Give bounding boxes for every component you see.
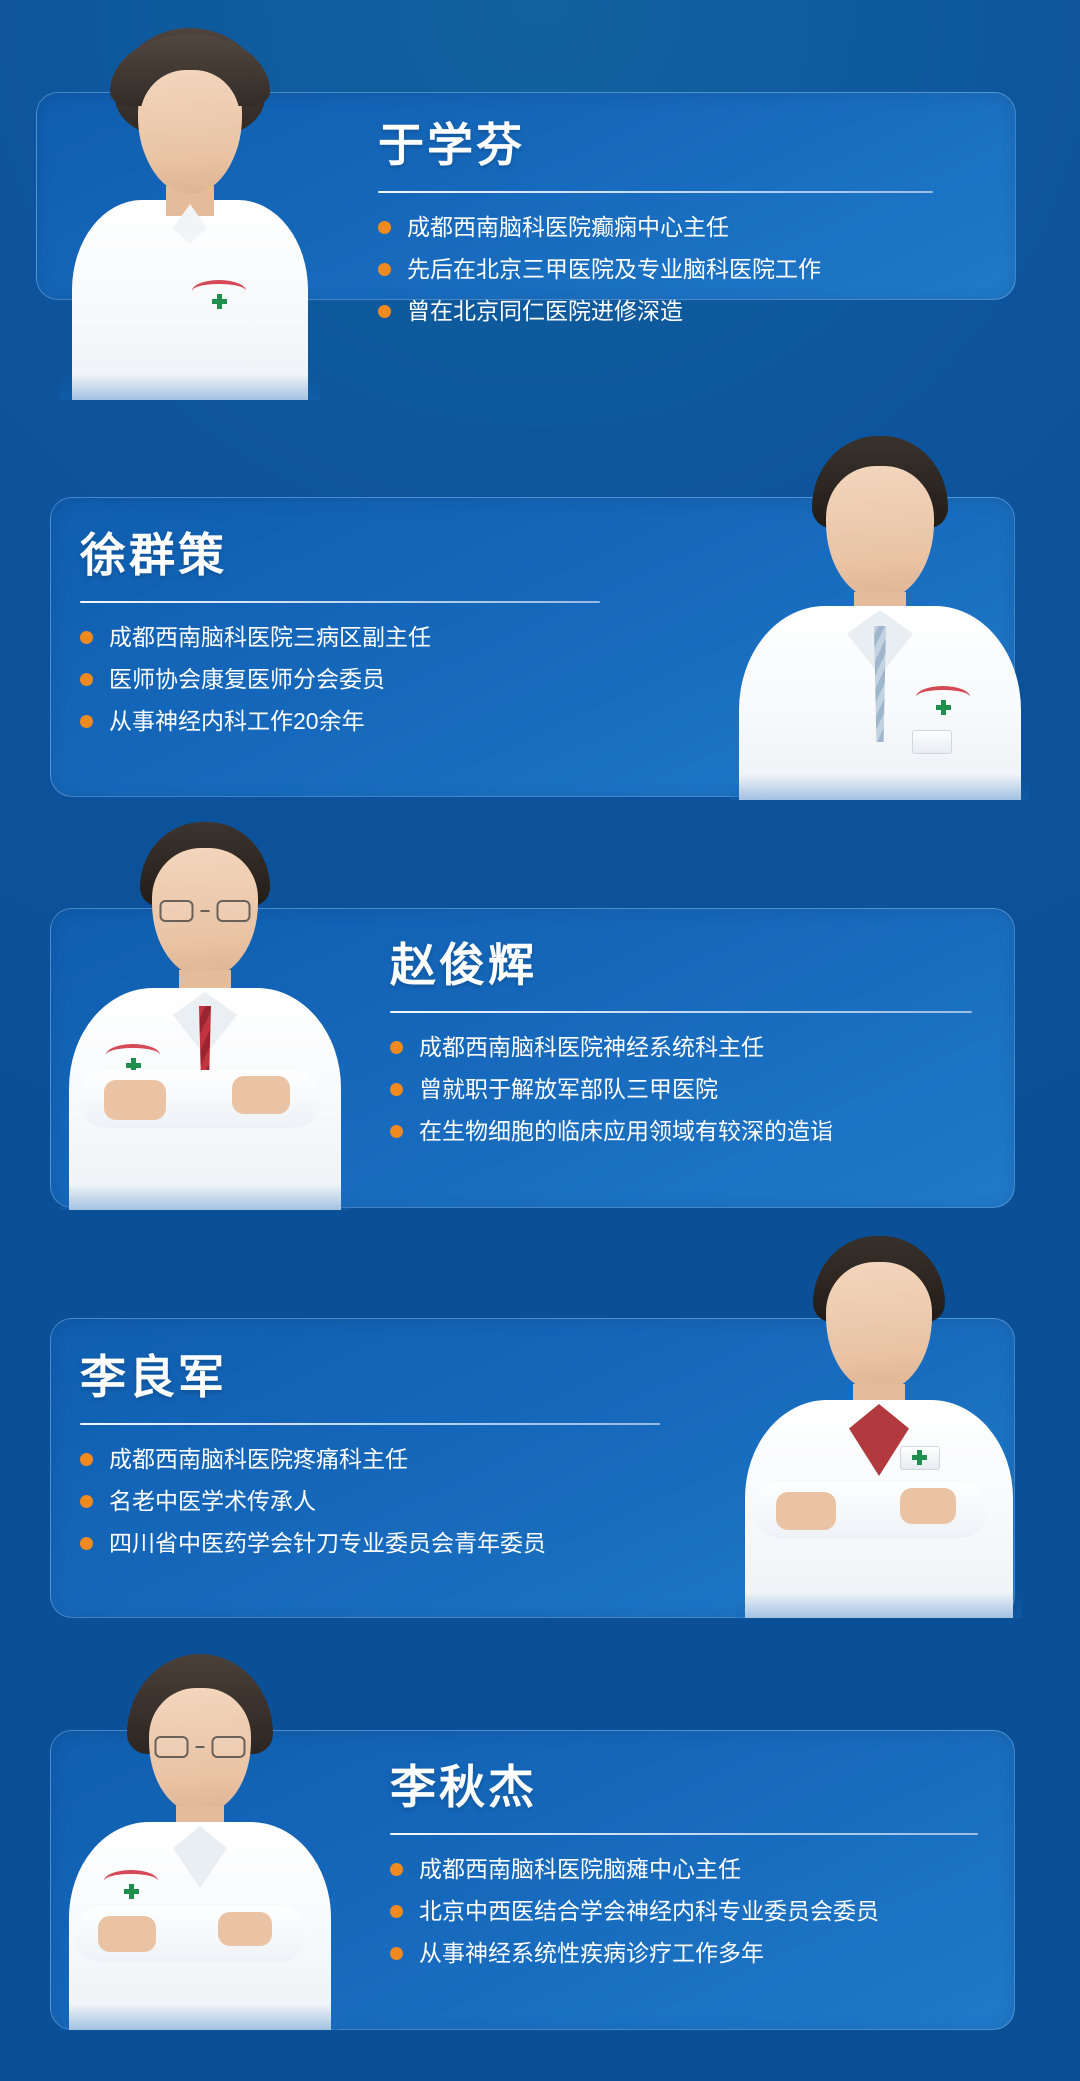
doctor-info-4: 李良军 成都西南脑科医院疼痛科主任 名老中医学术传承人 四川省中医药学会针刀专业… (80, 1352, 700, 1556)
credential-text: 成都西南脑科医院脑瘫中心主任 (419, 1857, 741, 1882)
divider (378, 191, 933, 193)
doctor-name: 徐群策 (80, 530, 680, 581)
credential-list: 成都西南脑科医院三病区副主任 医师协会康复医师分会委员 从事神经内科工作20余年 (80, 625, 680, 735)
credential-list: 成都西南脑科医院神经系统科主任 曾就职于解放军部队三甲医院 在生物细胞的临床应用… (390, 1035, 1010, 1145)
list-item: 成都西南脑科医院神经系统科主任 (390, 1035, 1010, 1060)
bullet-dot-icon (378, 305, 391, 318)
list-item: 从事神经系统性疾病诊疗工作多年 (390, 1941, 1020, 1966)
doctor-name: 李良军 (80, 1352, 700, 1403)
list-item: 曾就职于解放军部队三甲医院 (390, 1077, 1010, 1102)
bullet-dot-icon (390, 1947, 403, 1960)
divider (80, 1423, 660, 1425)
doctor-name: 于学芬 (378, 120, 998, 171)
doctor-info-2: 徐群策 成都西南脑科医院三病区副主任 医师协会康复医师分会委员 从事神经内科工作… (80, 530, 680, 734)
list-item: 北京中西医结合学会神经内科专业委员会委员 (390, 1899, 1020, 1924)
bullet-dot-icon (80, 715, 93, 728)
list-item: 名老中医学术传承人 (80, 1489, 700, 1514)
bullet-dot-icon (378, 221, 391, 234)
credential-text: 名老中医学术传承人 (109, 1489, 316, 1514)
bullet-dot-icon (390, 1125, 403, 1138)
list-item: 在生物细胞的临床应用领域有较深的造诣 (390, 1119, 1010, 1144)
list-item: 曾在北京同仁医院进修深造 (378, 299, 998, 324)
credential-text: 先后在北京三甲医院及专业脑科医院工作 (407, 257, 821, 282)
list-item: 成都西南脑科医院脑瘫中心主任 (390, 1857, 1020, 1882)
bullet-dot-icon (390, 1083, 403, 1096)
credential-text: 成都西南脑科医院疼痛科主任 (109, 1447, 408, 1472)
list-item: 从事神经内科工作20余年 (80, 709, 680, 734)
doctor-name: 赵俊辉 (390, 940, 1010, 991)
bullet-dot-icon (80, 673, 93, 686)
credential-text: 在生物细胞的临床应用领域有较深的造诣 (419, 1119, 833, 1144)
bullet-dot-icon (80, 1537, 93, 1550)
divider (390, 1011, 972, 1013)
credential-list: 成都西南脑科医院脑瘫中心主任 北京中西医结合学会神经内科专业委员会委员 从事神经… (390, 1857, 1020, 1967)
list-item: 医师协会康复医师分会委员 (80, 667, 680, 692)
doctor-info-1: 于学芬 成都西南脑科医院癫痫中心主任 先后在北京三甲医院及专业脑科医院工作 曾在… (378, 120, 998, 324)
list-item: 先后在北京三甲医院及专业脑科医院工作 (378, 257, 998, 282)
divider (80, 601, 600, 603)
list-item: 四川省中医药学会针刀专业委员会青年委员 (80, 1531, 700, 1556)
bullet-dot-icon (378, 263, 391, 276)
credential-text: 成都西南脑科医院癫痫中心主任 (407, 215, 729, 240)
list-item: 成都西南脑科医院疼痛科主任 (80, 1447, 700, 1472)
credential-text: 成都西南脑科医院神经系统科主任 (419, 1035, 764, 1060)
credential-text: 成都西南脑科医院三病区副主任 (109, 625, 431, 650)
credential-list: 成都西南脑科医院疼痛科主任 名老中医学术传承人 四川省中医药学会针刀专业委员会青… (80, 1447, 700, 1557)
divider (390, 1833, 978, 1835)
list-item: 成都西南脑科医院三病区副主任 (80, 625, 680, 650)
credential-text: 四川省中医药学会针刀专业委员会青年委员 (109, 1531, 546, 1556)
bullet-dot-icon (390, 1863, 403, 1876)
credential-text: 从事神经内科工作20余年 (109, 709, 365, 734)
credential-text: 曾就职于解放军部队三甲医院 (419, 1077, 718, 1102)
bullet-dot-icon (390, 1041, 403, 1054)
credential-list: 成都西南脑科医院癫痫中心主任 先后在北京三甲医院及专业脑科医院工作 曾在北京同仁… (378, 215, 998, 325)
doctor-name: 李秋杰 (390, 1762, 1020, 1813)
bullet-dot-icon (80, 1453, 93, 1466)
credential-text: 医师协会康复医师分会委员 (109, 667, 385, 692)
bullet-dot-icon (390, 1905, 403, 1918)
list-item: 成都西南脑科医院癫痫中心主任 (378, 215, 998, 240)
credential-text: 曾在北京同仁医院进修深造 (407, 299, 683, 324)
doctor-team-page: 于学芬 成都西南脑科医院癫痫中心主任 先后在北京三甲医院及专业脑科医院工作 曾在… (0, 0, 1080, 2081)
credential-text: 从事神经系统性疾病诊疗工作多年 (419, 1941, 764, 1966)
doctor-info-3: 赵俊辉 成都西南脑科医院神经系统科主任 曾就职于解放军部队三甲医院 在生物细胞的… (390, 940, 1010, 1144)
bullet-dot-icon (80, 1495, 93, 1508)
credential-text: 北京中西医结合学会神经内科专业委员会委员 (419, 1899, 879, 1924)
doctor-info-5: 李秋杰 成都西南脑科医院脑瘫中心主任 北京中西医结合学会神经内科专业委员会委员 … (390, 1762, 1020, 1966)
bullet-dot-icon (80, 631, 93, 644)
